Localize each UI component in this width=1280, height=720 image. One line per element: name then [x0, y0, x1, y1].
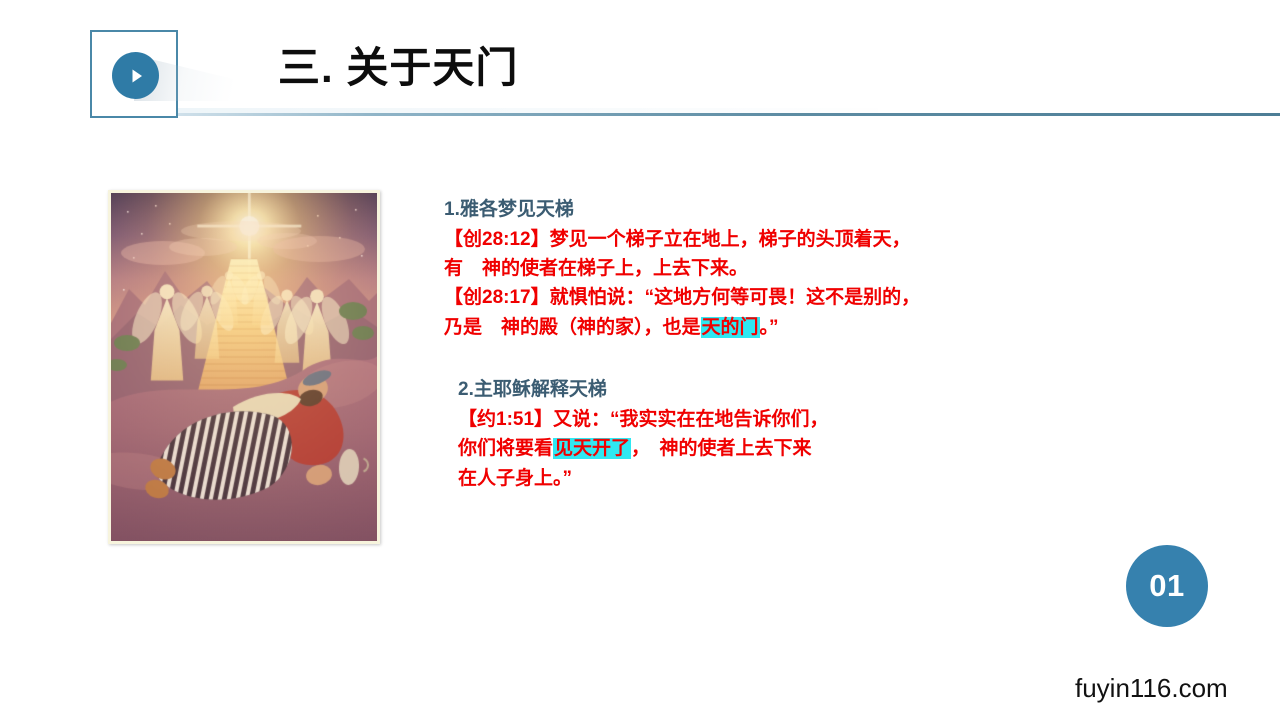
jacobs-ladder-illustration	[108, 190, 380, 544]
verse-line: 【创28:12】梦见一个梯子立在地上，梯子的头顶着天，	[444, 225, 1064, 254]
verse-line: 【创28:17】就惧怕说：“这地方何等可畏！这不是别的，	[444, 283, 1064, 312]
verse-line: 你们将要看见天开了， 神的使者上去下来	[458, 434, 1064, 463]
verse-reference: 【创28:12】	[444, 229, 550, 250]
verse-line: 有 神的使者在梯子上，上去下来。	[444, 254, 1064, 283]
verse-block: 【约1:51】又说：“我实实在在地告诉你们，你们将要看见天开了， 神的使者上去下…	[458, 405, 1064, 493]
verse-block: 【创28:17】就惧怕说：“这地方何等可畏！这不是别的，乃是 神的殿（神的家），…	[444, 283, 1064, 342]
section-number: 1.	[444, 199, 460, 220]
site-watermark: fuyin116.com	[1075, 673, 1228, 704]
verse-text: 在人子身上。”	[458, 468, 572, 489]
verse-reference: 【约1:51】	[458, 409, 553, 430]
verse-line: 【约1:51】又说：“我实实在在地告诉你们，	[458, 405, 1064, 434]
verse-text: 就惧怕说：“这地方何等可畏！这不是别的，	[550, 287, 921, 308]
section-number: 2.	[458, 379, 474, 400]
section-jacob-dream: 1.雅各梦见天梯【创28:12】梦见一个梯子立在地上，梯子的头顶着天，有 神的使…	[444, 196, 1064, 342]
verse-line: 乃是 神的殿（神的家），也是天的门。”	[444, 313, 1064, 342]
verse-block: 【创28:12】梦见一个梯子立在地上，梯子的头顶着天，有 神的使者在梯子上，上去…	[444, 225, 1064, 284]
verse-line: 在人子身上。”	[458, 464, 1064, 493]
illustration-canvas	[111, 193, 377, 541]
page-number-badge: 01	[1126, 545, 1208, 627]
section-heading-text: 主耶稣解释天梯	[474, 379, 607, 400]
highlighted-phrase: 见天开了	[553, 438, 631, 459]
section-spacer	[444, 342, 1064, 376]
verse-text: 。”	[760, 317, 779, 338]
verse-text: 梦见一个梯子立在地上，梯子的头顶着天，	[550, 229, 911, 250]
verse-text: ， 神的使者上去下来	[631, 438, 812, 459]
play-icon[interactable]	[112, 52, 159, 99]
section-jesus-explains: 2.主耶稣解释天梯【约1:51】又说：“我实实在在地告诉你们，你们将要看见天开了…	[444, 376, 1064, 493]
verse-text: 有 神的使者在梯子上，上去下来。	[444, 258, 748, 279]
header-rule	[178, 113, 1280, 116]
verse-text: 乃是 神的殿（神的家），也是	[444, 317, 701, 338]
verse-text: 又说：“我实实在在地告诉你们，	[553, 409, 829, 430]
section-heading-text: 雅各梦见天梯	[460, 199, 574, 220]
scripture-content: 1.雅各梦见天梯【创28:12】梦见一个梯子立在地上，梯子的头顶着天，有 神的使…	[444, 196, 1064, 493]
verse-text: 你们将要看	[458, 438, 553, 459]
section-heading: 2.主耶稣解释天梯	[458, 376, 1064, 405]
page-title: 三. 关于天门	[278, 44, 518, 92]
slide-root: 三. 关于天门 1.雅各梦见天梯【创28:12】梦见一个梯子立在地上，梯子的头顶…	[0, 0, 1280, 720]
slide-header: 三. 关于天门	[0, 0, 1280, 135]
verse-reference: 【创28:17】	[444, 287, 550, 308]
section-heading: 1.雅各梦见天梯	[444, 196, 1064, 225]
highlighted-phrase: 天的门	[701, 317, 760, 338]
